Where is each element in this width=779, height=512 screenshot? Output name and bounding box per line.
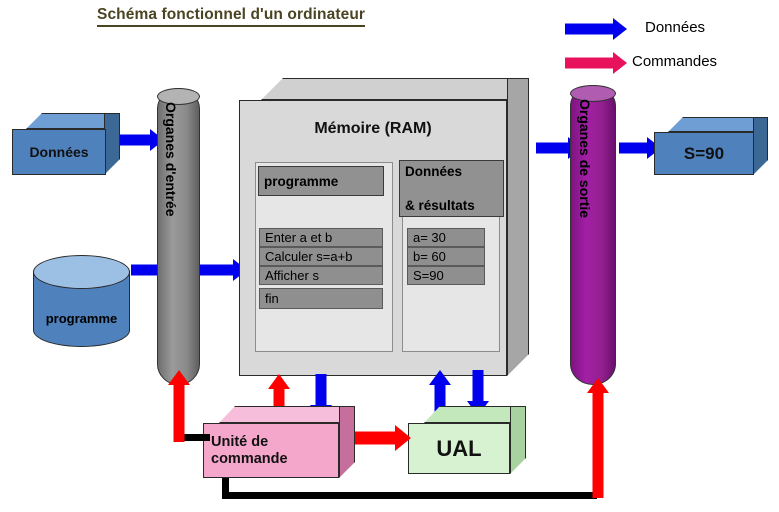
memory-program-line: Afficher s <box>259 266 383 285</box>
memory-box: Mémoire (RAM) programme Enter a et b Cal… <box>239 78 529 376</box>
arrow-control-unit-to-input-unit <box>168 370 190 442</box>
arrow-command-bus-to-output-unit <box>587 378 609 498</box>
memory-title: Mémoire (RAM) <box>239 120 507 138</box>
output-unit-label: Organes de sortie <box>577 99 593 218</box>
program-storage-cylinder: programme <box>33 255 130 347</box>
legend-label-command: Commandes <box>632 53 717 70</box>
control-unit-label-line2: commande <box>211 451 288 468</box>
memory-program-header: programme <box>258 166 384 196</box>
memory-data-line: S=90 <box>407 266 485 285</box>
result-output-label: S=90 <box>654 132 754 175</box>
page-title: Schéma fonctionnel d'un ordinateur <box>97 6 365 27</box>
memory-data-header: Données & résultats <box>399 160 504 217</box>
memory-data-line: b= 60 <box>407 247 485 266</box>
control-unit-label-line1: Unité de <box>211 434 268 451</box>
output-unit-cylinder: Organes de sortie <box>570 85 616 385</box>
legend-label-data: Données <box>645 19 705 36</box>
alu-label: UAL <box>408 423 510 474</box>
program-storage-label: programme <box>33 311 130 326</box>
diagram-canvas: Schéma fonctionnel d'un ordinateur Donné… <box>0 0 779 512</box>
data-input-box: Données <box>12 113 120 175</box>
command-bus-segment-horizontal <box>222 492 597 499</box>
memory-program-line: Enter a et b <box>259 228 383 247</box>
alu-box: UAL <box>408 406 526 474</box>
input-unit-cylinder: Organes d'entrée <box>157 88 200 385</box>
memory-program-line: fin <box>259 288 383 309</box>
result-output-box: S=90 <box>654 117 768 175</box>
data-input-label: Données <box>12 129 106 175</box>
legend-command-arrow <box>565 52 635 74</box>
control-unit-box: Unité de commande <box>203 406 355 478</box>
memory-program-line: Calculer s=a+b <box>259 247 383 266</box>
legend-data-arrow <box>565 18 635 40</box>
arrow-control-unit-to-alu <box>355 427 415 449</box>
memory-data-header-line2: & résultats <box>405 198 498 213</box>
input-unit-label: Organes d'entrée <box>163 102 179 217</box>
memory-data-line: a= 30 <box>407 228 485 247</box>
memory-data-header-line1: Données <box>405 164 498 179</box>
